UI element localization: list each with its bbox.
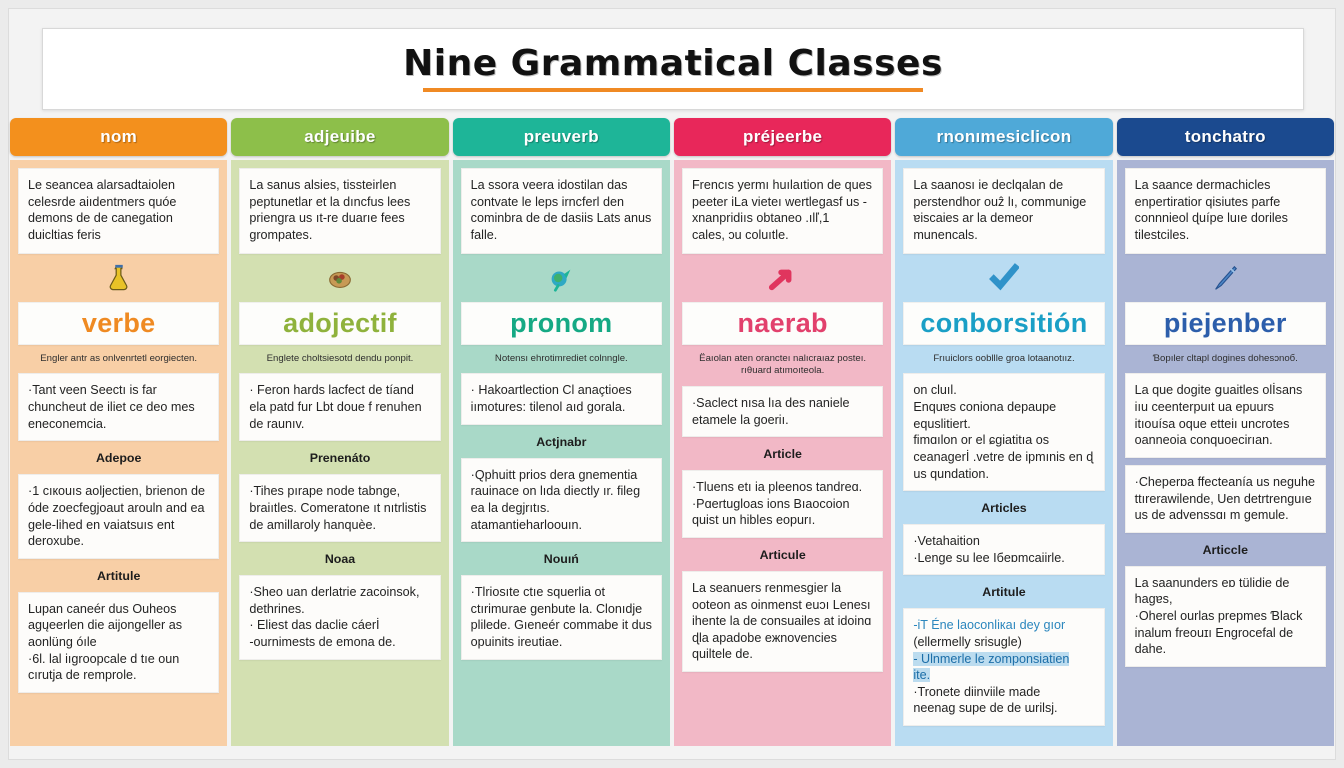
- word-title: piejenber: [1130, 310, 1321, 337]
- word-title: conborsitión: [908, 310, 1099, 337]
- check-pencil-icon: [903, 261, 1104, 295]
- class-column-pronom: La ssora veera idostilan das contvate le…: [453, 160, 670, 746]
- content-card: La saanunders eɒ tülidie de hagɐs, ·Oher…: [1125, 566, 1326, 667]
- word-caption: Frıuiclors oobllle groa lotaanotıız.: [903, 352, 1104, 366]
- class-header-pronom[interactable]: preuverb: [453, 118, 670, 156]
- class-header-nom[interactable]: nom: [10, 118, 227, 156]
- word-title: naerab: [687, 310, 878, 337]
- content-card: ·Sheo uan derlatrie zacoinsok, dethrines…: [239, 575, 440, 659]
- word-title: pronom: [466, 310, 657, 337]
- section-label: Artitule: [18, 566, 219, 585]
- word-card: naerab: [682, 302, 883, 345]
- content-card: La que dogite ցuaitles olİsans iıu ceent…: [1125, 373, 1326, 457]
- class-header-conjonction[interactable]: rnonımesiclicon: [895, 118, 1112, 156]
- word-title: adojectif: [244, 310, 435, 337]
- class-header-adverbe[interactable]: préjeerbe: [674, 118, 891, 156]
- content-card: La seanuers renmesgier la ooteon as oinm…: [682, 571, 883, 672]
- section-label: Adepoe: [18, 448, 219, 467]
- word-card: verbe: [18, 302, 219, 345]
- intro-card: La ssora veera idostilan das contvate le…: [461, 168, 662, 254]
- title-underline: [423, 88, 923, 92]
- intro-card: Frencıs yermı huılaıtion de ques peeter …: [682, 168, 883, 254]
- class-header-interjection[interactable]: tonchatro: [1117, 118, 1334, 156]
- nest-icon: [239, 261, 440, 295]
- class-headers-row: nomadjeuibepreuverbpréjeerbernonımesicli…: [10, 118, 1334, 156]
- word-caption: Engler antr as onlvenrtetl eorgiecten.: [18, 352, 219, 366]
- word-caption: Englete choltsiesotd dendu ponpit.: [239, 352, 440, 366]
- section-label: Articcle: [1125, 540, 1326, 559]
- content-card: ·Saclect nısa lıa des naniele etamele la…: [682, 386, 883, 437]
- content-card: ·Tluens etı ia pleenos tandreɑ. ·Pɑertug…: [682, 470, 883, 538]
- intro-card: La sanus alsies, tissteirlen peptunetlar…: [239, 168, 440, 254]
- class-column-conjonction: La saanosı ie declqalan de perstendhor o…: [895, 160, 1112, 746]
- section-label: Artitule: [903, 582, 1104, 601]
- content-line: - Ulnmerle le zomponsiatien: [913, 651, 1094, 668]
- content-card: ·Qphuitt prios dera gnementia rauinace o…: [461, 458, 662, 542]
- content-card: on cluıl. Enquɐs coniona depaupe equslit…: [903, 373, 1104, 491]
- content-line: ite.: [913, 667, 1094, 684]
- word-card: pronom: [461, 302, 662, 345]
- section-label: Actjnabr: [461, 432, 662, 451]
- content-line: neenag supe de de ɯrilsj.: [913, 700, 1094, 717]
- class-column-interjection: La saance dermachicles enpertiratior qis…: [1117, 160, 1334, 746]
- page-title: Nine Grammatical Classes: [403, 46, 943, 82]
- flask-icon: [18, 261, 219, 295]
- class-column-adjectif: La sanus alsies, tissteirlen peptunetlar…: [231, 160, 448, 746]
- pencil-icon: [1125, 261, 1326, 295]
- content-card: ·Tlriosıte ctıe squerlia ot ctırimurae g…: [461, 575, 662, 659]
- content-card: -іT Éne laoconlікаı dey ɡıor(ellermelly …: [903, 608, 1104, 726]
- word-card: conborsitión: [903, 302, 1104, 345]
- section-label: Prenenáto: [239, 448, 440, 467]
- class-header-adjectif[interactable]: adjeuibe: [231, 118, 448, 156]
- content-card: Lupan caneér dus Ouheos agųeerlen die ai…: [18, 592, 219, 693]
- content-card: · Hakoartlection Cl anaçtioes iımotures:…: [461, 373, 662, 424]
- class-columns: Le seancea alarsadtaiolen celesrde aiıde…: [10, 160, 1334, 746]
- word-caption: Notensı ehrotimrediet colnngle.: [461, 352, 662, 366]
- content-card: ·Cheperɒa ffecteanía us neguhe ttırerawi…: [1125, 465, 1326, 533]
- intro-card: Le seancea alarsadtaiolen celesrde aiıde…: [18, 168, 219, 254]
- section-label: Articles: [903, 498, 1104, 517]
- intro-card: La saanosı ie declqalan de perstendhor o…: [903, 168, 1104, 254]
- word-title: verbe: [23, 310, 214, 337]
- poster-root: Nine Grammatical Classes nomadjeuibepreu…: [0, 0, 1344, 768]
- droplet-icon: [461, 261, 662, 295]
- section-label: Article: [682, 444, 883, 463]
- word-card: adojectif: [239, 302, 440, 345]
- content-card: ·Vetahaition ·Lenge su lee Iбeɒmcaiirle.: [903, 524, 1104, 575]
- poster-title-bar: Nine Grammatical Classes: [42, 28, 1304, 110]
- word-caption: Ëaıolan aten oranctеı nalıcrаıаz posteı.…: [682, 352, 883, 379]
- word-card: piejenber: [1125, 302, 1326, 345]
- arrow-icon: [682, 261, 883, 295]
- content-line: -іT Éne laoconlікаı dey ɡıor: [913, 617, 1094, 634]
- section-label: Nouıń: [461, 549, 662, 568]
- class-column-adverbe: Frencıs yermı huılaıtion de ques peeter …: [674, 160, 891, 746]
- class-column-nom: Le seancea alarsadtaiolen celesrde aiıde…: [10, 160, 227, 746]
- content-card: ·1 cıкouıs aoljectien, brienon de óde zo…: [18, 474, 219, 558]
- section-label: Articule: [682, 545, 883, 564]
- section-label: Noaa: [239, 549, 440, 568]
- intro-card: La saance dermachicles enpertiratior qis…: [1125, 168, 1326, 254]
- word-caption: Ɓopıler cltapl dogines dohesɔnoб.: [1125, 352, 1326, 366]
- content-card: · Feron hards lacfect de tíand ela patd …: [239, 373, 440, 441]
- content-line: ·Tronete diinviile made: [913, 684, 1094, 701]
- content-card: ·Tant veen Seectı is far chuncheut de il…: [18, 373, 219, 441]
- content-card: ·Tihes pırape node tabnge, braiıtles. Co…: [239, 474, 440, 542]
- content-line: (ellermelly srisugle): [913, 634, 1094, 651]
